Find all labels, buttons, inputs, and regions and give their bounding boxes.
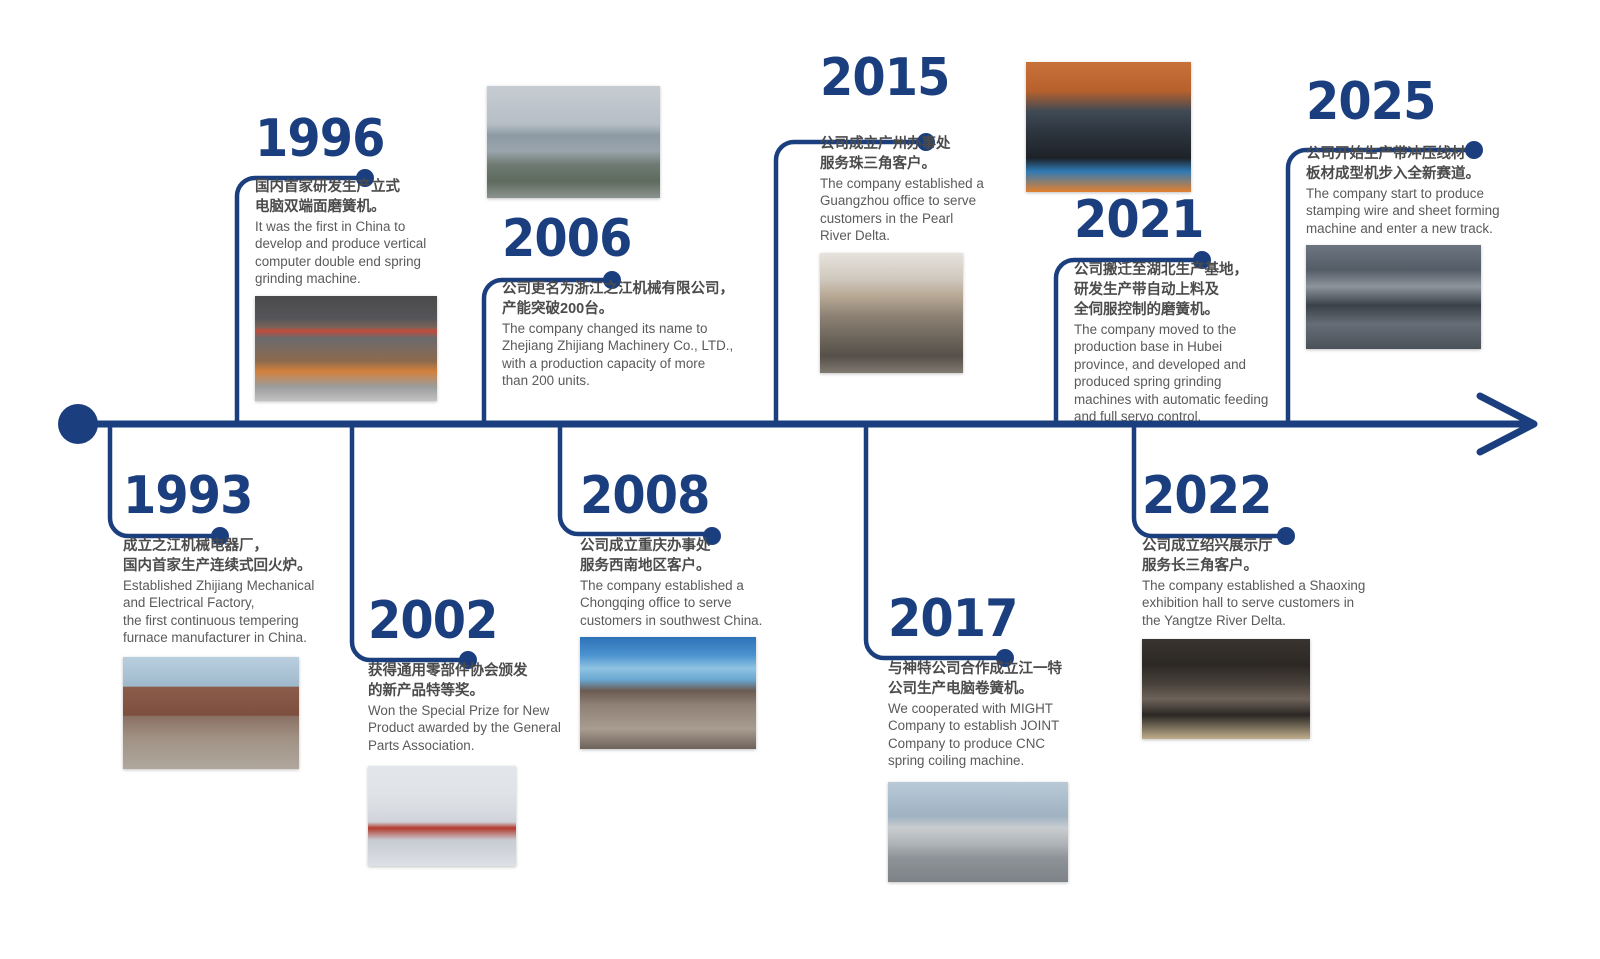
milestone-cn-2022: 公司成立绍兴展示厅 服务长三角客户。 — [1142, 536, 1392, 576]
milestone-photo-2025 — [1306, 245, 1481, 349]
milestone-en-2008: The company established a Chongqing offi… — [580, 577, 800, 629]
milestone-photo-2008 — [580, 637, 756, 749]
milestone-2006[interactable]: 2006 公司更名为浙江之江机械有限公司， 产能突破200台。 The comp… — [502, 213, 752, 390]
timeline-infographic: 1996 国内首家研发生产立式 电脑双端面磨簧机。 It was the fir… — [0, 0, 1600, 959]
milestone-year-1993: 1993 — [123, 470, 325, 522]
milestone-photo-2017 — [888, 782, 1068, 882]
milestone-1996[interactable]: 1996 国内首家研发生产立式 电脑双端面磨簧机。 It was the fir… — [255, 113, 455, 401]
milestone-photo-1996 — [255, 296, 437, 401]
milestone-photo-2015 — [820, 253, 963, 373]
milestone-en-2015: The company established a Guangzhou offi… — [820, 175, 1000, 245]
milestone-year-2022: 2022 — [1142, 470, 1372, 522]
milestone-year-2006: 2006 — [502, 213, 732, 265]
milestone-year-2008: 2008 — [580, 470, 782, 522]
milestone-cn-2008: 公司成立重庆办事处 服务西南地区客户。 — [580, 536, 800, 576]
milestone-en-2006: The company changed its name to Zhejiang… — [502, 320, 752, 390]
milestone-year-2021: 2021 — [1074, 194, 1272, 246]
milestone-cn-2025: 公司开始生产带冲压线材 板材成型机步入全新赛道。 — [1306, 144, 1516, 184]
milestone-year-2017: 2017 — [888, 593, 1077, 645]
milestone-en-2017: We cooperated with MIGHT Company to esta… — [888, 700, 1093, 770]
milestone-en-2022: The company established a Shaoxing exhib… — [1142, 577, 1392, 629]
milestone-year-1996: 1996 — [255, 113, 439, 165]
milestone-photo-2002 — [368, 766, 516, 866]
milestone-2015[interactable]: 2015 公司成立广州办事处 服务珠三角客户。 The company esta… — [820, 52, 1000, 373]
milestone-en-2021: The company moved to the production base… — [1074, 321, 1289, 425]
milestone-2017[interactable]: 2017 与神特公司合作成立江一特 公司生产电脑卷簧机。 We cooperat… — [888, 593, 1093, 882]
milestone-cn-2021: 公司搬迁至湖北生产基地， 研发生产带自动上料及 全伺服控制的磨簧机。 — [1074, 260, 1289, 320]
milestone-year-2002: 2002 — [368, 595, 566, 647]
milestone-photo-2006 — [487, 86, 660, 198]
milestone-cn-2015: 公司成立广州办事处 服务珠三角客户。 — [820, 134, 1000, 174]
milestone-2021[interactable]: 2021 公司搬迁至湖北生产基地， 研发生产带自动上料及 全伺服控制的磨簧机。 … — [1074, 194, 1289, 425]
milestone-en-2025: The company start to produce stamping wi… — [1306, 185, 1516, 237]
milestone-en-1996: It was the first in China to develop and… — [255, 218, 455, 288]
milestone-photo-2021 — [1026, 62, 1191, 192]
milestone-year-2015: 2015 — [820, 52, 986, 104]
milestone-2008[interactable]: 2008 公司成立重庆办事处 服务西南地区客户。 The company est… — [580, 470, 800, 749]
axis-arrow-head — [1480, 396, 1534, 452]
milestone-en-1993: Established Zhijiang Mechanical and Elec… — [123, 577, 343, 647]
milestone-cn-2002: 获得通用零部件协会颁发 的新产品特等奖。 — [368, 661, 583, 701]
milestone-2025[interactable]: 2025 公司开始生产带冲压线材 板材成型机步入全新赛道。 The compan… — [1306, 76, 1516, 349]
milestone-year-2025: 2025 — [1306, 76, 1499, 128]
milestone-cn-2006: 公司更名为浙江之江机械有限公司， 产能突破200台。 — [502, 279, 752, 319]
milestone-2002[interactable]: 2002 获得通用零部件协会颁发 的新产品特等奖。 Won the Specia… — [368, 595, 583, 866]
milestone-cn-1993: 成立之江机械电器厂， 国内首家生产连续式回火炉。 — [123, 536, 343, 576]
milestone-en-2002: Won the Special Prize for New Product aw… — [368, 702, 583, 754]
milestone-2022[interactable]: 2022 公司成立绍兴展示厅 服务长三角客户。 The company esta… — [1142, 470, 1392, 739]
axis-start-dot — [58, 404, 98, 444]
milestone-photo-2022 — [1142, 639, 1310, 739]
milestone-1993[interactable]: 1993 成立之江机械电器厂， 国内首家生产连续式回火炉。 Establishe… — [123, 470, 343, 769]
milestone-photo-1993 — [123, 657, 299, 769]
milestone-cn-2017: 与神特公司合作成立江一特 公司生产电脑卷簧机。 — [888, 659, 1093, 699]
milestone-cn-1996: 国内首家研发生产立式 电脑双端面磨簧机。 — [255, 177, 455, 217]
